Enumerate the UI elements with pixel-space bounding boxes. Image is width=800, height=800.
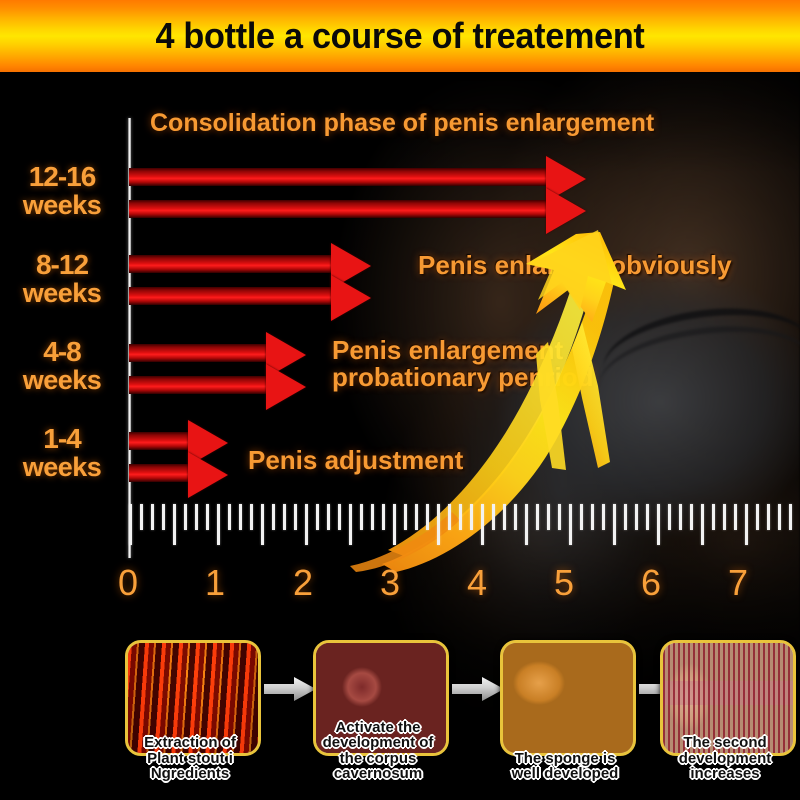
step-3-caption: The sponge is well developed — [486, 751, 644, 782]
step-arrow-2-to-3 — [452, 676, 504, 702]
bar-segment-bottom — [129, 376, 279, 394]
axis-tick-0: 0 — [108, 562, 148, 604]
bar-segment-bottom — [129, 200, 559, 218]
phase-caption-2: Penis enlargement probationary penriod — [332, 337, 593, 391]
bar-arrowhead-bottom — [546, 188, 586, 234]
promo-infographic: 4 bottle a course of treatement 12-16 we… — [0, 0, 800, 800]
step-1-caption: Extraction of Plant stout i Ngredients — [111, 735, 269, 782]
bar-arrowhead-bottom — [331, 275, 371, 321]
y-label-8-12-weeks: 8-12 weeks — [0, 250, 124, 308]
bar-arrowhead-bottom — [188, 452, 228, 498]
bar-segment-top — [129, 344, 279, 362]
axis-tick-1: 1 — [195, 562, 235, 604]
step-arrow-1-to-2 — [264, 676, 316, 702]
phase-caption-4: Consolidation phase of penis enlargement — [150, 110, 654, 136]
y-label-1-4-weeks: 1-4 weeks — [0, 424, 124, 482]
step-2-caption: Activate the development of the corpus c… — [299, 720, 457, 782]
step-3-card — [500, 640, 636, 756]
bar-segment-bottom — [129, 287, 344, 305]
axis-tick-3: 3 — [370, 562, 410, 604]
measurement-ruler — [0, 504, 800, 564]
step-4-caption: The second development increases — [646, 735, 800, 782]
process-steps-strip: Extraction of Plant stout i Ngredients A… — [0, 628, 800, 800]
y-label-4-8-weeks: 4-8 weeks — [0, 337, 124, 395]
step-4: The second development increases — [660, 634, 790, 784]
sponge-anatomy-icon — [503, 643, 633, 753]
step-3: The sponge is well developed — [500, 634, 630, 784]
step-1: Extraction of Plant stout i Ngredients — [125, 634, 255, 784]
bar-segment-top — [129, 168, 559, 186]
banner-title: 4 bottle a course of treatement — [20, 0, 780, 72]
axis-tick-2: 2 — [283, 562, 323, 604]
timeline-chart: 12-16 weeks Consolidation phase of penis… — [0, 72, 800, 632]
phase-caption-1: Penis adjustment — [248, 447, 463, 474]
axis-tick-4: 4 — [457, 562, 497, 604]
step-2: Activate the development of the corpus c… — [313, 634, 443, 784]
axis-tick-7: 7 — [718, 562, 758, 604]
axis-tick-6: 6 — [631, 562, 671, 604]
phase-caption-3: Penis enlarged obviously — [418, 252, 732, 279]
bar-segment-top — [129, 255, 344, 273]
bar-arrowhead-bottom — [266, 364, 306, 410]
axis-tick-5: 5 — [544, 562, 584, 604]
y-label-12-16-weeks: 12-16 weeks — [0, 162, 124, 220]
